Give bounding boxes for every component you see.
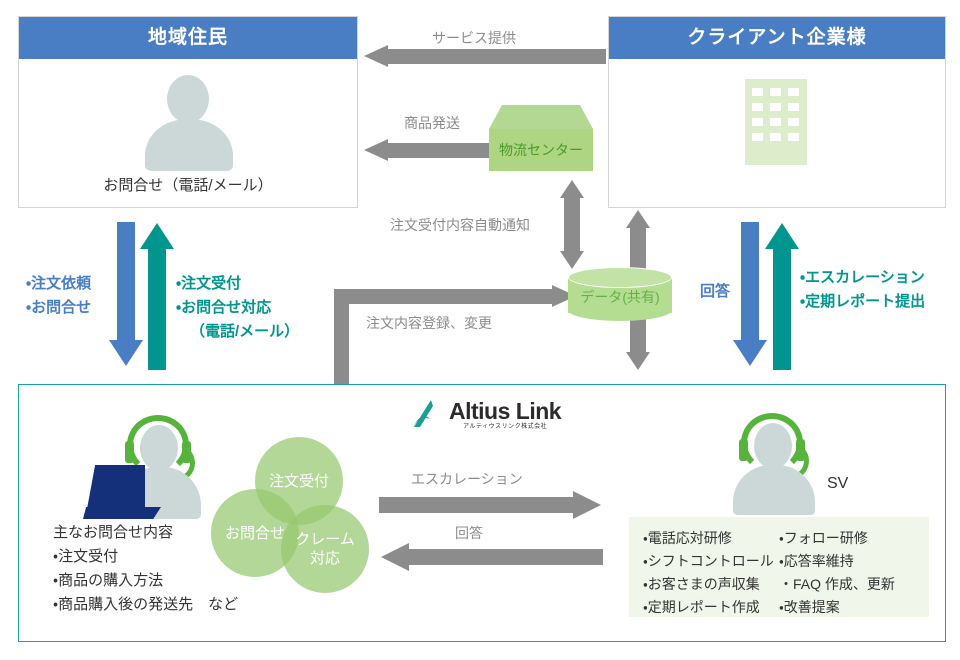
database-label: データ(共有) (568, 287, 672, 307)
inquiry-list-item-2: ・商品購入後の発送先 など (53, 593, 238, 617)
logistics-center-label: 物流センター (489, 129, 593, 171)
inquiry-list-title: 主なお問合せ内容 (53, 521, 238, 545)
left-up-flow-labels: ・注文受付 ・お問合せ対応 （電話/メール） (176, 272, 299, 344)
left-down-item-1: ・お問合せ (26, 296, 91, 320)
operator-headset-icon (83, 415, 223, 525)
arrow-answer-head (733, 340, 767, 366)
arrow-answer-internal-head (381, 543, 409, 571)
venn-label-order: 注文受付 (269, 472, 329, 491)
label-order-auto-notice: 注文受付内容自動通知 (390, 215, 530, 235)
arrow-db-to-client-head (626, 210, 650, 228)
client-box-header: クライアント企業様 (609, 17, 945, 59)
arrow-order-accept-head (140, 223, 174, 249)
arrow-order-register-horizontal (334, 289, 554, 304)
client-box-body (609, 59, 945, 207)
label-product-shipping: 商品発送 (404, 113, 460, 133)
left-up-item-0: ・注文受付 (176, 272, 299, 296)
residents-box-caption: お問合せ（電話/メール） (19, 174, 357, 195)
arrow-service-provision-shaft (388, 49, 606, 64)
inquiry-list: 主なお問合せ内容 ・注文受付 ・商品の購入方法 ・商品購入後の発送先 など (53, 521, 238, 617)
residents-box-body: お問合せ（電話/メール） (19, 59, 357, 207)
sv-task-left-1: ・シフトコントロール (643, 550, 779, 573)
right-up-flow-labels: ・エスカレーション ・定期レポート提出 (800, 266, 925, 314)
sv-task-right-0: ・フォロー研修 (779, 527, 915, 550)
sv-tasks-column-left: ・電話応対研修 ・シフトコントロール ・お客さまの声収集 ・定期レポート作成 (643, 527, 779, 607)
venn-label-claim: クレーム 対応 (295, 530, 355, 568)
arrow-product-shipping-head (364, 139, 388, 161)
arrow-escalation-shaft (773, 248, 791, 370)
residents-box: 地域住民 お問合せ（電話/メール） (18, 16, 358, 208)
inquiry-list-item-1: ・商品の購入方法 (53, 569, 238, 593)
sv-task-left-2: ・お客さまの声収集 (643, 573, 779, 596)
altius-link-mark-icon (409, 399, 443, 429)
sv-label: SV (827, 475, 848, 493)
label-answer-right: 回答 (700, 280, 730, 304)
client-box: クライアント企業様 (608, 16, 946, 208)
altius-link-panel: Altius Link アルティウスリンク株式会社 注文受付 お問合せ クレーム… (18, 384, 946, 642)
right-up-item-1: ・定期レポート提出 (800, 290, 925, 314)
label-service-provision: サービス提供 (432, 28, 516, 48)
arrow-answer-shaft (741, 222, 759, 344)
sv-task-right-2: ・FAQ 作成、更新 (779, 573, 915, 596)
left-down-item-0: ・注文依頼 (26, 272, 91, 296)
left-up-item-1: ・お問合せ対応 (176, 296, 299, 320)
arrow-service-provision-head (364, 45, 388, 67)
laptop-icon (87, 465, 145, 509)
arrow-product-shipping-shaft (388, 143, 491, 158)
arrow-order-accept-shaft (148, 248, 166, 370)
arrow-order-register-vertical (334, 289, 349, 384)
logistics-center-icon: 物流センター (489, 105, 593, 171)
sv-task-left-0: ・電話応対研修 (643, 527, 779, 550)
arrow-answer-internal-shaft (407, 549, 603, 565)
arrow-auto-notice-shaft (564, 195, 580, 257)
arrow-escalation-internal-head (573, 491, 601, 519)
logo-wordmark: Altius Link (449, 399, 561, 423)
venn-circle-claim: クレーム 対応 (281, 505, 369, 593)
arrow-db-to-panel-head (626, 352, 650, 370)
sv-tasks-column-right: ・フォロー研修 ・応答率維持 ・FAQ 作成、更新 ・改善提案 (779, 527, 915, 607)
left-down-flow-labels: ・注文依頼 ・お問合せ (26, 272, 91, 320)
arrow-escalation-head (765, 223, 799, 249)
label-escalation-internal: エスカレーション (411, 469, 523, 489)
inquiry-list-item-0: ・注文受付 (53, 545, 238, 569)
arrow-escalation-internal-shaft (379, 497, 575, 513)
altius-link-logo: Altius Link アルティウスリンク株式会社 (409, 399, 561, 432)
arrow-auto-notice-head-up (560, 180, 584, 198)
left-up-item-2: （電話/メール） (176, 320, 299, 344)
residents-box-header: 地域住民 (19, 17, 357, 59)
database-cylinder-icon: データ(共有) (568, 267, 672, 323)
building-icon (745, 79, 807, 165)
diagram-canvas: 地域住民 お問合せ（電話/メール） クライアント企業様 (0, 0, 960, 660)
sv-tasks-box: ・電話応対研修 ・シフトコントロール ・お客さまの声収集 ・定期レポート作成 ・… (629, 517, 929, 617)
right-up-item-0: ・エスカレーション (800, 266, 925, 290)
label-order-register-change: 注文内容登録、変更 (366, 313, 492, 333)
arrow-resident-request-shaft (117, 222, 135, 344)
label-answer-internal: 回答 (455, 523, 483, 543)
arrow-resident-request-head (109, 340, 143, 366)
supervisor-headset-icon (719, 413, 839, 517)
sv-task-right-3: ・改善提案 (779, 596, 915, 619)
sv-task-right-1: ・応答率維持 (779, 550, 915, 573)
sv-task-left-3: ・定期レポート作成 (643, 596, 779, 619)
logo-subtext: アルティウスリンク株式会社 (449, 423, 561, 432)
